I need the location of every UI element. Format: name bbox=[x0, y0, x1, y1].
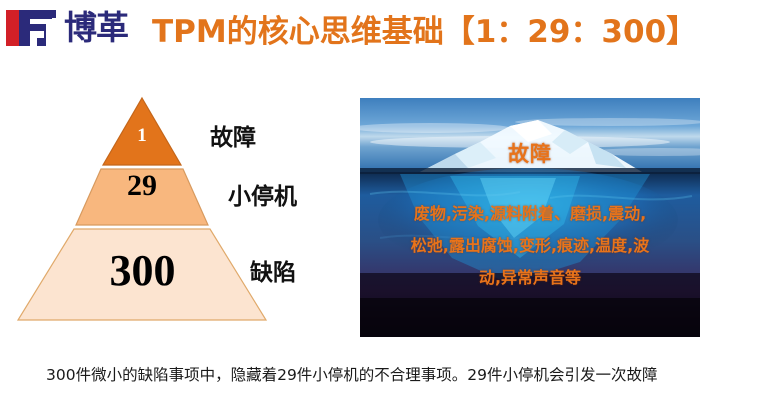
pyramid-shape bbox=[0, 90, 350, 340]
pyramid-tier-1-label: 故障 bbox=[210, 118, 256, 152]
pyramid-tier-2-value: 29 bbox=[106, 169, 178, 203]
iceberg-title-label: 故障 bbox=[360, 138, 700, 168]
pyramid-tier-1-value: 1 bbox=[124, 125, 160, 147]
iceberg-line-2: 松弛,露出腐蚀,变形,痕迹,温度,波 bbox=[360, 232, 700, 256]
iceberg-line-3: 动,异常声音等 bbox=[360, 264, 700, 288]
pyramid-tier-2-label: 小停机 bbox=[228, 177, 297, 211]
pyramid-diagram: 1 29 300 故障 小停机 缺陷 bbox=[0, 90, 350, 340]
pyramid-tier-3-value: 300 bbox=[85, 245, 200, 296]
brand-logo: 博革 bbox=[6, 8, 141, 48]
iceberg-line-1: 废物,污染,源料附着、磨损,震动, bbox=[360, 200, 700, 224]
bg-monogram-logo-icon bbox=[6, 9, 58, 47]
page-header: 博革 TPM的核心思维基础【1：29：300】 bbox=[0, 0, 760, 58]
pyramid-tier-3-label: 缺陷 bbox=[250, 253, 296, 287]
iceberg-image: 故障 废物,污染,源料附着、磨损,震动, 松弛,露出腐蚀,变形,痕迹,温度,波 … bbox=[360, 98, 700, 337]
brand-logo-text: 博革 bbox=[64, 9, 128, 47]
caption-text: 300件微小的缺陷事项中，隐藏着29件小停机的不合理事项。29件小停机会引发一次… bbox=[46, 363, 718, 388]
page-title: TPM的核心思维基础【1：29：300】 bbox=[152, 6, 752, 51]
